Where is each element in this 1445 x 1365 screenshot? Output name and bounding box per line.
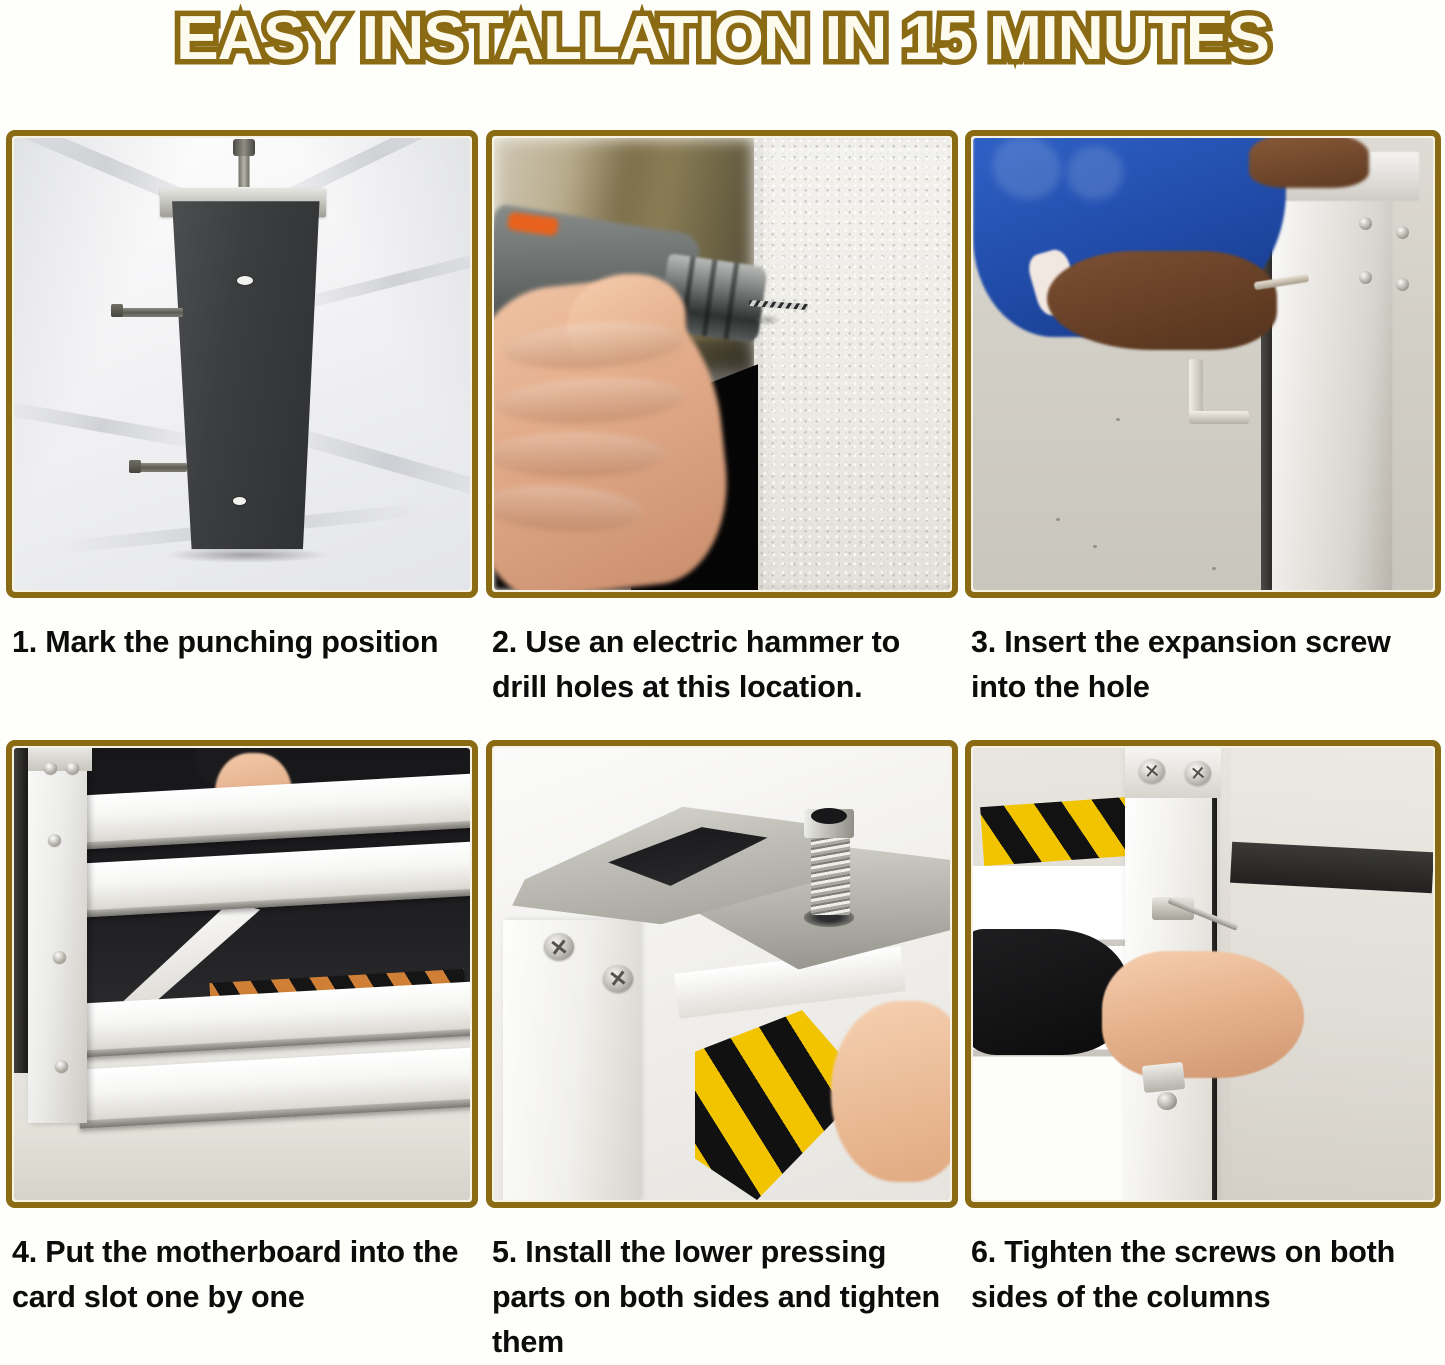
hazard-stripe-panel bbox=[980, 797, 1131, 866]
floor-speck bbox=[1093, 545, 1097, 548]
photo-boards-into-slot bbox=[14, 748, 470, 1200]
hex-key-foot bbox=[1189, 411, 1249, 424]
photo-pressing-bracket bbox=[494, 748, 950, 1200]
upper-hand bbox=[1249, 138, 1369, 188]
floor-speck bbox=[1116, 418, 1120, 421]
step-card-1: 1. Mark the punching position bbox=[6, 130, 478, 740]
step-card-2: 2. Use an electric hammer to drill holes… bbox=[486, 130, 958, 740]
drill-dust bbox=[754, 314, 781, 326]
photo-frame-6 bbox=[965, 740, 1441, 1208]
floor-surface bbox=[14, 1119, 470, 1200]
photo-frame-5 bbox=[486, 740, 958, 1208]
header-banner: EASY INSTALLATION IN 15 MINUTES bbox=[0, 0, 1445, 78]
chuck-ring bbox=[723, 263, 739, 340]
post-screw bbox=[44, 762, 57, 774]
wall-surface bbox=[754, 138, 950, 590]
step-card-6: 6. Tighten the screws on both sides of t… bbox=[965, 740, 1441, 1350]
white-column bbox=[1272, 161, 1392, 590]
steps-grid: 1. Mark the punching position bbox=[0, 78, 1445, 1352]
step-caption-1: 1. Mark the punching position bbox=[6, 620, 478, 665]
step-caption-5: 5. Install the lower pressing parts on b… bbox=[486, 1230, 958, 1365]
side-bolt-upper-head bbox=[111, 304, 123, 317]
photo-bracket-on-cloth bbox=[14, 138, 470, 590]
photo-frame-1 bbox=[6, 130, 478, 598]
steps-row-bottom: 4. Put the motherboard into the card slo… bbox=[0, 740, 1445, 1350]
step-card-4: 4. Put the motherboard into the card slo… bbox=[6, 740, 478, 1350]
post-cap bbox=[28, 748, 92, 771]
photo-tighten-screws bbox=[973, 748, 1433, 1200]
lower-bracket bbox=[1142, 1062, 1186, 1093]
lower-screw bbox=[1157, 1092, 1177, 1110]
post-screw bbox=[48, 834, 61, 846]
photo-frame-3 bbox=[965, 130, 1441, 598]
photo-expansion-screw bbox=[973, 138, 1433, 590]
shirt-fold bbox=[1062, 140, 1128, 205]
step-caption-4: 4. Put the motherboard into the card slo… bbox=[6, 1230, 478, 1320]
photo-frame-2 bbox=[486, 130, 958, 598]
chuck-ring bbox=[702, 260, 718, 337]
side-bolt-lower-head bbox=[129, 460, 141, 473]
page-title: EASY INSTALLATION IN 15 MINUTES bbox=[176, 8, 1269, 70]
step-card-3: 3. Insert the expansion screw into the h… bbox=[965, 130, 1441, 740]
step-card-5: 5. Install the lower pressing parts on b… bbox=[486, 740, 958, 1350]
step-caption-3: 3. Insert the expansion screw into the h… bbox=[965, 620, 1441, 710]
floor-speck bbox=[1056, 518, 1060, 521]
column-screw bbox=[1139, 759, 1165, 783]
forearm-and-hand bbox=[1047, 251, 1277, 350]
step-caption-6: 6. Tighten the screws on both sides of t… bbox=[965, 1230, 1441, 1320]
steps-row-top: 1. Mark the punching position bbox=[0, 130, 1445, 740]
step-caption-2: 2. Use an electric hammer to drill holes… bbox=[486, 620, 958, 710]
white-column bbox=[503, 920, 640, 1200]
shirt-fold bbox=[983, 138, 1069, 210]
column-screw bbox=[1185, 761, 1211, 785]
post-screw bbox=[55, 1060, 68, 1072]
hand bbox=[1102, 951, 1304, 1078]
wall-texture bbox=[754, 138, 950, 590]
bolt-thread bbox=[811, 834, 850, 915]
finger bbox=[831, 1001, 950, 1182]
photo-drilling-wall bbox=[494, 138, 950, 590]
bracket-body bbox=[169, 201, 319, 549]
hex-socket-hole bbox=[811, 808, 847, 824]
side-bolt-upper bbox=[114, 308, 182, 317]
top-bolt-nut bbox=[233, 139, 255, 156]
photo-frame-4 bbox=[6, 740, 478, 1208]
